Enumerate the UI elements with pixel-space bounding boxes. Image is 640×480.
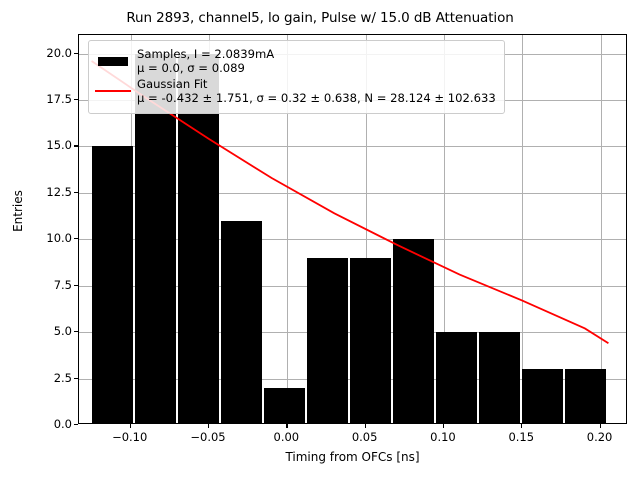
- x-tick-mark: [443, 424, 444, 428]
- x-tick-label: 0.20: [587, 430, 613, 444]
- chart-legend: Samples, I = 2.0839mA μ = 0.0, σ = 0.089…: [88, 40, 505, 114]
- x-axis-tick-marks: [78, 424, 627, 428]
- x-tick-label: 0.00: [274, 430, 300, 444]
- legend-entry-gaussian-fit: Gaussian Fit μ = -0.432 ± 1.751, σ = 0.3…: [95, 77, 496, 106]
- x-tick-label: −0.10: [112, 430, 147, 444]
- legend-fit-line1: Gaussian Fit: [137, 77, 496, 91]
- y-tick-label: 20.0: [46, 46, 72, 60]
- y-tick-label: 12.5: [46, 185, 72, 199]
- y-axis-tick-marks: [74, 34, 78, 424]
- y-tick-label: 10.0: [46, 231, 72, 245]
- legend-entry-samples: Samples, I = 2.0839mA μ = 0.0, σ = 0.089: [95, 47, 496, 76]
- x-tick-mark: [600, 424, 601, 428]
- y-tick-mark: [74, 53, 78, 54]
- x-tick-mark: [130, 424, 131, 428]
- y-tick-mark: [74, 145, 78, 146]
- chart-title: Run 2893, channel5, lo gain, Pulse w/ 15…: [0, 10, 640, 26]
- x-axis-label: Timing from OFCs [ns]: [78, 450, 627, 464]
- x-axis-tick-labels: −0.10−0.050.000.050.100.150.20: [78, 430, 627, 446]
- legend-text-samples: Samples, I = 2.0839mA μ = 0.0, σ = 0.089: [137, 47, 274, 76]
- y-tick-mark: [74, 285, 78, 286]
- y-tick-mark: [74, 99, 78, 100]
- x-tick-mark: [365, 424, 366, 428]
- x-tick-mark: [286, 424, 287, 428]
- y-tick-label: 5.0: [54, 324, 72, 338]
- x-tick-label: 0.10: [430, 430, 456, 444]
- x-tick-mark: [521, 424, 522, 428]
- legend-key-patch-icon: [95, 50, 131, 72]
- figure-canvas: Run 2893, channel5, lo gain, Pulse w/ 15…: [0, 0, 640, 480]
- x-tick-label: 0.05: [352, 430, 378, 444]
- x-tick-mark: [208, 424, 209, 428]
- legend-text-gaussian-fit: Gaussian Fit μ = -0.432 ± 1.751, σ = 0.3…: [137, 77, 496, 106]
- y-tick-mark: [74, 331, 78, 332]
- x-tick-label: −0.05: [190, 430, 225, 444]
- y-tick-label: 7.5: [54, 278, 72, 292]
- y-tick-label: 15.0: [46, 138, 72, 152]
- y-tick-mark: [74, 378, 78, 379]
- x-tick-label: 0.15: [508, 430, 534, 444]
- y-axis-tick-labels: 0.02.55.07.510.012.515.017.520.0: [28, 34, 72, 424]
- y-tick-label: 17.5: [46, 92, 72, 106]
- legend-samples-line2: μ = 0.0, σ = 0.089: [137, 61, 274, 75]
- y-tick-label: 2.5: [54, 371, 72, 385]
- y-tick-label: 0.0: [54, 417, 72, 431]
- y-tick-mark: [74, 192, 78, 193]
- y-tick-mark: [74, 238, 78, 239]
- y-axis-label: Entries: [11, 166, 25, 256]
- legend-samples-line1: Samples, I = 2.0839mA: [137, 47, 274, 61]
- legend-fit-line2: μ = -0.432 ± 1.751, σ = 0.32 ± 0.638, N …: [137, 91, 496, 105]
- legend-key-line-icon: [95, 80, 131, 102]
